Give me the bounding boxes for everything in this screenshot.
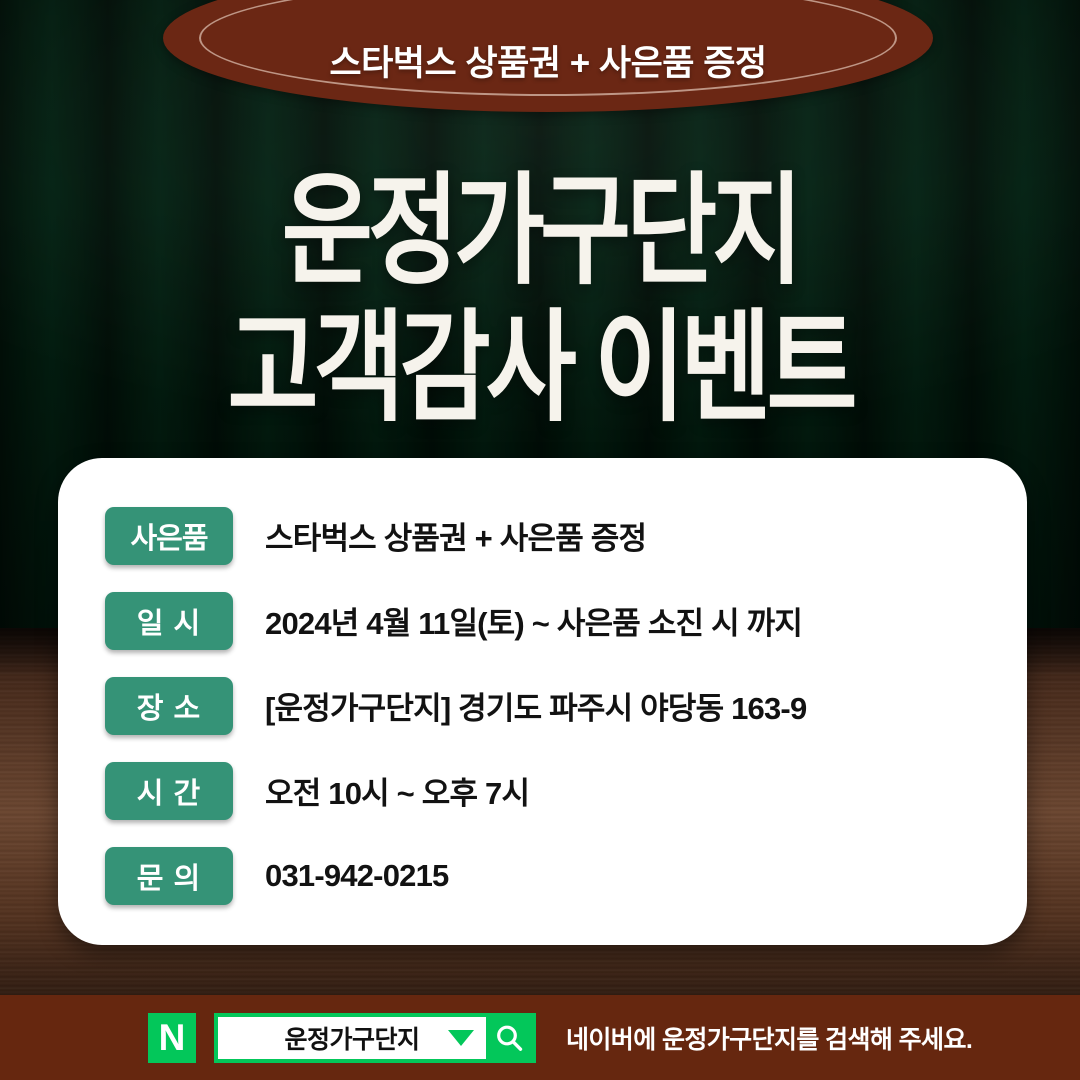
search-input[interactable]: 운정가구단지 — [218, 1017, 486, 1059]
detail-label-gift: 사은품 — [105, 507, 233, 565]
search-icon — [494, 1023, 524, 1053]
naver-search-widget: N 운정가구단지 네이버에 운정가구단지를 검색해 주세요. — [148, 1013, 972, 1063]
search-button[interactable] — [486, 1017, 532, 1059]
detail-label-time: 시 간 — [105, 762, 233, 820]
naver-logo[interactable]: N — [148, 1013, 196, 1063]
detail-row-date: 일 시 2024년 4월 11일(토) ~ 사은품 소진 시 까지 — [105, 585, 1027, 656]
footer-cta-text: 네이버에 운정가구단지를 검색해 주세요. — [566, 1020, 972, 1056]
footer-bar: N 운정가구단지 네이버에 운정가구단지를 검색해 주세요. — [0, 995, 1080, 1080]
title-line-1: 운정가구단지 — [0, 170, 1080, 291]
detail-label-contact: 문 의 — [105, 847, 233, 905]
search-input-value: 운정가구단지 — [284, 1020, 419, 1056]
naver-search-bar[interactable]: 운정가구단지 — [214, 1013, 536, 1063]
page-title: 운정가구단지 고객감사 이벤트 — [0, 170, 1080, 406]
chevron-down-icon[interactable] — [448, 1030, 474, 1046]
detail-label-date: 일 시 — [105, 592, 233, 650]
detail-label-location: 장 소 — [105, 677, 233, 735]
detail-value-location: [운정가구단지] 경기도 파주시 야당동 163-9 — [265, 683, 806, 728]
detail-row-contact: 문 의 031-942-0215 — [105, 840, 1027, 911]
detail-value-gift: 스타벅스 상품권 + 사은품 증정 — [265, 513, 646, 558]
detail-value-date: 2024년 4월 11일(토) ~ 사은품 소진 시 까지 — [265, 598, 802, 643]
promo-badge-text: 스타벅스 상품권 + 사은품 증정 — [329, 35, 766, 112]
detail-value-time: 오전 10시 ~ 오후 7시 — [265, 768, 529, 813]
event-details-rows: 사은품 스타벅스 상품권 + 사은품 증정 일 시 2024년 4월 11일(토… — [58, 500, 1027, 911]
poster-canvas: 스타벅스 상품권 + 사은품 증정 운정가구단지 고객감사 이벤트 사은품 스타… — [0, 0, 1080, 1080]
detail-value-contact: 031-942-0215 — [265, 858, 448, 894]
detail-row-gift: 사은품 스타벅스 상품권 + 사은품 증정 — [105, 500, 1027, 571]
event-details-card: 사은품 스타벅스 상품권 + 사은품 증정 일 시 2024년 4월 11일(토… — [58, 458, 1027, 945]
detail-row-location: 장 소 [운정가구단지] 경기도 파주시 야당동 163-9 — [105, 670, 1027, 741]
detail-row-time: 시 간 오전 10시 ~ 오후 7시 — [105, 755, 1027, 826]
title-line-2: 고객감사 이벤트 — [0, 307, 1080, 428]
